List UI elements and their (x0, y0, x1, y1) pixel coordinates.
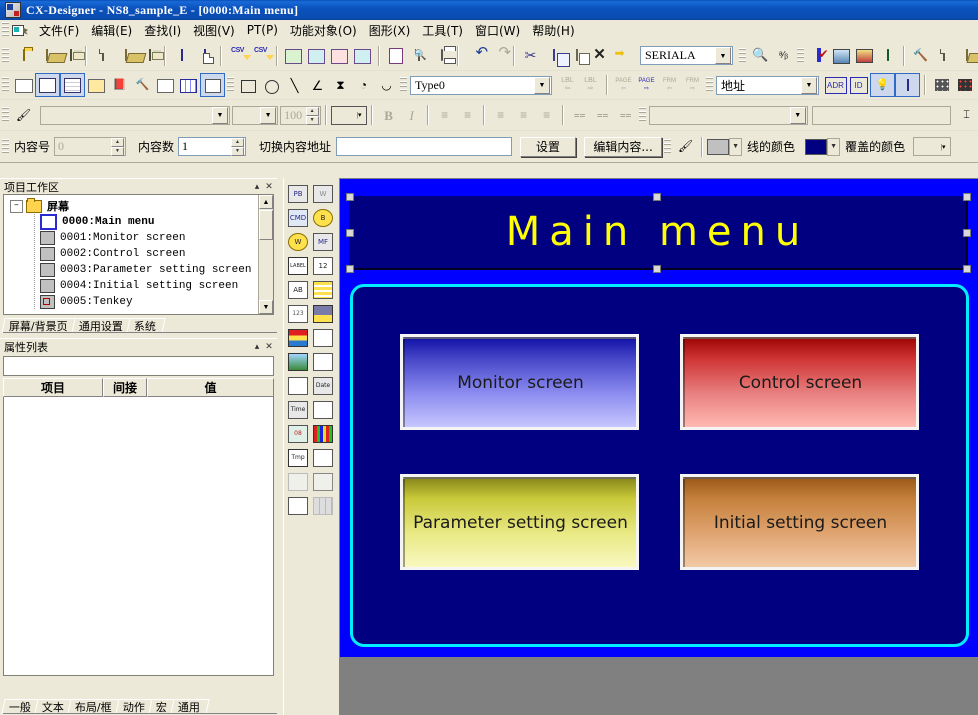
multifunction-icon[interactable]: MF (312, 231, 334, 253)
polygon-icon[interactable]: ⧗ (329, 74, 352, 96)
line-graph-icon[interactable] (312, 447, 334, 469)
host-select[interactable]: SERIALA ▼ (640, 46, 733, 65)
thumbwheel-icon-glyph: 123 (288, 305, 308, 323)
thumbwheel-icon[interactable]: 123 (287, 303, 309, 325)
tab-system[interactable]: 系统 (126, 318, 165, 333)
screen-icon (40, 279, 55, 293)
analog-meter-icon[interactable] (312, 303, 334, 325)
label-next-icon[interactable]: LBL⇨ (579, 74, 602, 96)
tree-item-label: 0005:Tenkey (60, 296, 133, 308)
menu-view[interactable]: 视图(V) (187, 20, 241, 41)
chevron-down-icon[interactable]: ▼ (212, 107, 228, 124)
table-select-icon[interactable] (60, 73, 85, 97)
pt-setup-icon[interactable] (351, 45, 374, 67)
ellipse-icon[interactable] (260, 74, 283, 96)
title-label-text: Main menu (506, 209, 809, 255)
scroll-thumb[interactable] (259, 210, 273, 240)
paste-icon[interactable] (565, 45, 588, 67)
scroll-down-icon[interactable]: ▼ (259, 300, 273, 314)
frame-icon[interactable] (287, 495, 309, 517)
toolbar-gripper-9[interactable] (639, 107, 646, 123)
fill-icon[interactable] (895, 73, 920, 97)
toolbar-gripper-11[interactable] (664, 139, 671, 155)
bitmap-icon[interactable] (287, 351, 309, 373)
bitmap-icon-glyph (288, 353, 308, 371)
word-lamp-icon[interactable]: W (312, 183, 334, 205)
date-icon-glyph: Date (313, 377, 333, 395)
screen-icon[interactable] (170, 45, 193, 67)
window-icon[interactable] (85, 74, 108, 96)
menu-bar: 文件(F) 编辑(E) 查找(I) 视图(V) PT(P) 功能对象(O) 图形… (0, 20, 978, 41)
standard-toolbar: CSV CSV 🔍 ✂ ✕ SERIALA ▼ 🔍 ᵃ⁄ᵦ 🔨 (0, 41, 978, 71)
adr-button[interactable]: ADR (824, 74, 847, 96)
analog-meter-icon-glyph (313, 305, 333, 323)
chevron-down-icon[interactable]: ▼ (801, 77, 817, 94)
format-toolbar: 🖌 ▼ ▼ 100 ▲▼ |▾ B I ≡ ≡ ≡ ≡ ≡ ⩵ ⩵ ⩵ (0, 100, 978, 131)
line-color-label: 线的颜色 (747, 138, 795, 155)
button-monitor-screen-label: Monitor screen (403, 337, 636, 427)
table-icon[interactable] (312, 495, 334, 517)
align-left-icon[interactable]: ≡ (433, 104, 456, 126)
toolbar-gripper-4[interactable] (2, 77, 9, 93)
tree-item-label: 0001:Monitor screen (60, 232, 185, 244)
string-display-icon[interactable]: AB (287, 279, 309, 301)
page-next-icon[interactable]: PAGE⇨ (635, 74, 658, 96)
csv-import-icon[interactable]: CSV (226, 45, 249, 67)
string-display-icon-glyph: AB (288, 281, 308, 299)
pb-button-icon-glyph: PB (288, 185, 308, 203)
color-bar-icon[interactable] (312, 423, 334, 445)
column-item[interactable]: 项目 (3, 378, 103, 397)
broken-line-graph-icon[interactable] (312, 327, 334, 349)
close-icon[interactable]: ✕ (263, 341, 275, 353)
arc-icon[interactable]: ◡ (375, 74, 398, 96)
column-indirect[interactable]: 间接 (103, 378, 147, 397)
level-meter-icon-glyph (288, 329, 308, 347)
word-button-icon-glyph: W (288, 233, 308, 251)
frame-prev-icon[interactable]: FRM⇦ (658, 74, 681, 96)
validate-icon[interactable] (807, 45, 830, 67)
chevron-down-icon[interactable]: |▾ (353, 107, 365, 124)
toolbar-gripper-1[interactable] (2, 48, 9, 64)
save-icon[interactable] (137, 45, 160, 67)
list-selection-icon[interactable] (312, 279, 334, 301)
sector-icon[interactable]: ◔ (352, 74, 375, 96)
content-number-stepper[interactable]: 0 ▲▼ (54, 137, 126, 156)
toolbar-separator (85, 46, 87, 66)
frame-next-icon[interactable]: FRM⇨ (681, 74, 704, 96)
type-select[interactable]: Type0 ▼ (410, 76, 552, 95)
keypad-icon (40, 295, 55, 309)
app-icon (5, 2, 21, 18)
expand-toggle-icon[interactable]: – (10, 200, 23, 213)
font-select[interactable]: ▼ (40, 106, 230, 125)
tab-screens[interactable]: 屏幕/背景页 (1, 318, 77, 333)
bit-lamp-icon[interactable]: B (312, 207, 334, 229)
toolbar-separator (513, 46, 515, 66)
menu-graphics[interactable]: 图形(X) (363, 20, 417, 41)
color-bar-icon-glyph (313, 425, 333, 443)
tool-hammer-icon[interactable]: 🔨 (131, 74, 154, 96)
tree-item-0003[interactable]: 0003:Parameter setting screen (8, 262, 273, 278)
numeral-display-icon-glyph: 12 (313, 257, 333, 275)
content-number-label: 内容号 (14, 138, 50, 155)
document-display-icon[interactable] (287, 471, 309, 493)
window-title: CX-Designer - NS8_sample_E - [0000:Main … (26, 3, 298, 18)
tree-root-row[interactable]: – 屏幕 (8, 198, 273, 214)
tree-item-0004[interactable]: 0004:Initial setting screen (8, 278, 273, 294)
selection-handle[interactable] (653, 193, 661, 201)
toolbar-gripper-8[interactable] (2, 107, 9, 123)
project-tree[interactable]: – 屏幕 0000:Main menu 0001:Monitor screen (3, 194, 274, 315)
object-properties-icon[interactable] (12, 74, 35, 96)
menu-file[interactable]: 文件(F) (33, 20, 85, 41)
design-screen[interactable]: Main menu Monitor screen Control screen … (340, 179, 978, 657)
property-grid-header: 项目 间接 值 (3, 378, 274, 397)
tree-content: – 屏幕 0000:Main menu 0001:Monitor screen (4, 195, 273, 310)
tool-hammer-icon[interactable]: 🔨 (909, 45, 932, 67)
italic-button[interactable]: I (400, 104, 423, 126)
command-button-icon-glyph: CMD (288, 209, 308, 227)
project-panel-header: 项目工作区 ▴ ✕ (0, 178, 277, 194)
column-value[interactable]: 值 (147, 378, 274, 397)
property-panel-title: 属性列表 (4, 339, 251, 355)
line-graph-icon-glyph (313, 449, 333, 467)
trend-graph-icon[interactable] (312, 399, 334, 421)
toolbar-separator (276, 46, 278, 66)
transform-icon[interactable] (200, 73, 225, 97)
compare-icon[interactable] (328, 45, 351, 67)
tree-item-label: 0003:Parameter setting screen (60, 264, 251, 276)
database-icon[interactable] (876, 45, 899, 67)
selection-handle[interactable] (653, 265, 661, 273)
tree-item-label: 0002:Control screen (60, 248, 185, 260)
data-log-graph-icon[interactable] (312, 351, 334, 373)
content-toolbar: 内容号 0 ▲▼ 内容数 1 ▲▼ 切换内容地址 设置 编辑内容... 🖌 ▼ … (0, 131, 978, 163)
menu-pt[interactable]: PT(P) (241, 21, 284, 39)
toolbar-separator (606, 75, 608, 95)
collapse-icon[interactable]: ▴ (251, 341, 263, 353)
style-select[interactable]: ▼ (649, 106, 808, 125)
document-system-icon[interactable] (12, 23, 29, 38)
video-display-icon[interactable] (312, 471, 334, 493)
screen-copy-icon[interactable] (193, 45, 216, 67)
text-cursor-icon[interactable]: ⌶ (955, 104, 978, 126)
button-initial-setting-screen[interactable]: Initial setting screen (680, 474, 919, 570)
data-log-graph-icon-glyph (313, 353, 333, 371)
document-display-icon-glyph (288, 473, 308, 491)
menu-frame[interactable]: Monitor screen Control screen Parameter … (350, 284, 969, 647)
grid-icon[interactable] (177, 74, 200, 96)
table-arrow-icon[interactable] (611, 45, 634, 67)
page-setup-icon[interactable] (384, 45, 407, 67)
document-check-icon[interactable] (932, 45, 955, 67)
alarm-table-icon[interactable]: 08 (287, 423, 309, 445)
property-grid-body[interactable] (3, 397, 274, 676)
chevron-down-icon[interactable]: |▾ (937, 138, 949, 155)
spinner-buttons[interactable]: ▲▼ (231, 138, 244, 155)
line-icon[interactable]: ╲ (283, 74, 306, 96)
menu-window[interactable]: 窗口(W) (469, 20, 526, 41)
toolbar-separator (483, 105, 485, 125)
toolbar-gripper-2[interactable] (739, 48, 746, 64)
label-icon[interactable]: LABEL (287, 255, 309, 277)
red-dots-icon[interactable] (953, 74, 976, 96)
screen-icon (40, 214, 57, 230)
selection-handle[interactable] (346, 193, 354, 201)
selection-handle[interactable] (963, 229, 971, 237)
object-palette-grid: PBWCMDBWMFLABEL12AB123DateTime08Tmp (284, 178, 340, 517)
toolbar-separator (562, 105, 564, 125)
window-title-bar: CX-Designer - NS8_sample_E - [0000:Main … (0, 0, 978, 20)
spacing-2-icon[interactable]: ⩵ (591, 104, 614, 126)
property-panel-tabs: 一般 文本 布局/框 动作 宏 通用 (3, 698, 277, 714)
toolbar-separator (903, 46, 905, 66)
print-icon[interactable] (430, 45, 453, 67)
command-button-icon[interactable]: CMD (287, 207, 309, 229)
application-window: CX-Designer - NS8_sample_E - [0000:Main … (0, 0, 978, 715)
level-meter-icon[interactable] (287, 327, 309, 349)
button-parameter-setting-screen[interactable]: Parameter setting screen (400, 474, 639, 570)
copy-icon[interactable] (542, 45, 565, 67)
macro-icon[interactable]: 📕 (108, 74, 131, 96)
object-toolbar: 📕 🔨 ╲ ∠ ⧗ ◔ ◡ Type0 ▼ LBL⇦ LBL⇨ PAGE⇦ PA… (0, 71, 978, 100)
chevron-down-icon[interactable]: ▼ (260, 107, 276, 124)
tree-item-label: 0000:Main menu (62, 216, 154, 228)
transfer-to-pt-icon[interactable] (282, 45, 305, 67)
toolbar-separator (164, 46, 166, 66)
tree-root-label: 屏幕 (47, 198, 69, 214)
screen-icon (40, 247, 55, 261)
close-icon[interactable]: ✕ (263, 181, 275, 193)
scroll-up-icon[interactable]: ▲ (259, 195, 273, 209)
alarm-table-icon-glyph: 08 (288, 425, 308, 443)
tree-item-0001[interactable]: 0001:Monitor screen (8, 230, 273, 246)
menu-gripper[interactable] (2, 22, 9, 38)
tree-vertical-scrollbar[interactable]: ▲ ▼ (258, 195, 273, 314)
toolbar-gripper-6[interactable] (400, 77, 407, 93)
delete-icon[interactable]: ✕ (588, 45, 611, 67)
multifunction-icon-glyph: MF (313, 233, 333, 251)
menu-help[interactable]: 帮助(H) (526, 20, 580, 41)
tab-common[interactable]: 通用 (170, 699, 209, 714)
data-block-icon[interactable] (287, 375, 309, 397)
frame-icon[interactable] (154, 74, 177, 96)
paint-brush-icon[interactable]: 🖌 (674, 136, 697, 158)
toolbar-separator (701, 137, 703, 157)
id-button[interactable]: ID (847, 74, 870, 96)
style-field[interactable] (812, 106, 951, 125)
data-block-icon-glyph (288, 377, 308, 395)
open-folder-icon[interactable] (955, 45, 978, 67)
toolbar-gripper-10[interactable] (2, 139, 9, 155)
dots-icon[interactable] (930, 74, 953, 96)
folder-icon (26, 200, 42, 213)
toolbar-separator (427, 105, 429, 125)
print-preview-icon[interactable]: 🔍 (407, 45, 430, 67)
chevron-down-icon[interactable]: ▼ (729, 138, 742, 156)
canvas-area[interactable]: Main menu Monitor screen Control screen … (339, 178, 978, 715)
csv-export-icon[interactable]: CSV (249, 45, 272, 67)
save-all-icon[interactable] (58, 45, 81, 67)
align-top-icon[interactable]: ≡ (489, 104, 512, 126)
chevron-down-icon[interactable]: ▼ (790, 107, 806, 124)
button-monitor-screen[interactable]: Monitor screen (400, 334, 639, 430)
spacing-1-icon[interactable]: ⩵ (568, 104, 591, 126)
menu-tools[interactable]: 工具(T) (416, 20, 469, 41)
menu-functional-objects[interactable]: 功能对象(O) (284, 20, 363, 41)
chevron-down-icon[interactable]: ▼ (827, 138, 840, 156)
align-middle-icon[interactable]: ≡ (512, 104, 535, 126)
toolbar-separator (325, 105, 327, 125)
address-select[interactable]: 地址 ▼ (716, 76, 819, 95)
list-selection-icon-glyph (313, 281, 333, 299)
chevron-down-icon[interactable]: ▼ (715, 47, 731, 64)
screen-select-icon[interactable] (35, 73, 60, 97)
video-display-icon-glyph (313, 473, 333, 491)
bit-lamp-icon-glyph: B (313, 209, 333, 227)
set-button[interactable]: 设置 (520, 137, 576, 157)
menu-find[interactable]: 查找(I) (138, 20, 187, 41)
table-icon-glyph (313, 497, 333, 515)
new-file-icon[interactable] (91, 45, 114, 67)
toolbar-separator (457, 46, 459, 66)
rectangle-icon[interactable] (237, 74, 260, 96)
bold-button[interactable]: B (377, 104, 400, 126)
label-icon-glyph: LABEL (288, 257, 308, 275)
tab-common-settings[interactable]: 通用设置 (71, 318, 132, 333)
tree-item-0005[interactable]: 0005:Tenkey (8, 294, 273, 310)
menu-edit[interactable]: 编辑(E) (85, 20, 138, 41)
redo-icon[interactable] (486, 45, 509, 67)
word-lamp-icon-glyph: W (313, 185, 333, 203)
test-icon[interactable] (853, 45, 876, 67)
title-label-object[interactable]: Main menu (349, 196, 966, 268)
selection-handle[interactable] (963, 193, 971, 201)
spacing-3-icon[interactable]: ⩵ (614, 104, 637, 126)
fill-color-label: 覆盖的颜色 (845, 138, 905, 155)
open-file-icon[interactable] (114, 45, 137, 67)
spinner-buttons[interactable]: ▲▼ (111, 138, 124, 155)
date-icon[interactable]: Date (312, 375, 334, 397)
time-icon-glyph: Time (288, 401, 308, 419)
fill-color-swatch (805, 139, 827, 155)
format-painter-icon[interactable]: 🖌 (12, 104, 35, 126)
cut-icon[interactable]: ✂ (519, 45, 542, 67)
content-count-label: 内容数 (138, 138, 174, 155)
switch-address-label: 切换内容地址 (259, 138, 331, 155)
tree-item-0000[interactable]: 0000:Main menu (8, 214, 273, 230)
selection-handle[interactable] (963, 265, 971, 273)
pb-button-icon[interactable]: PB (287, 183, 309, 205)
numeral-display-icon[interactable]: 12 (312, 255, 334, 277)
tree-item-0002[interactable]: 0002:Control screen (8, 246, 273, 262)
transfer-from-pt-icon[interactable] (305, 45, 328, 67)
edit-content-button[interactable]: 编辑内容... (584, 137, 662, 157)
fill-color-picker[interactable]: ▼ (805, 138, 840, 156)
time-icon[interactable]: Time (287, 399, 309, 421)
trend-graph-icon-glyph (313, 401, 333, 419)
align-bottom-icon[interactable]: ≡ (535, 104, 558, 126)
chevron-down-icon[interactable]: ▼ (534, 77, 550, 94)
project-panel-tabs: 屏幕/背景页 通用设置 系统 (3, 317, 277, 333)
toolbar-gripper-3[interactable] (797, 48, 804, 64)
content-count-stepper[interactable]: 1 ▲▼ (178, 137, 246, 156)
toolbar-gripper-5[interactable] (227, 77, 234, 93)
button-control-screen-label: Control screen (683, 337, 916, 427)
toolbar-separator (371, 105, 373, 125)
selection-handle[interactable] (346, 229, 354, 237)
label-prev-icon[interactable]: LBL⇦ (556, 74, 579, 96)
page-prev-icon[interactable]: PAGE⇦ (612, 74, 635, 96)
property-object-field[interactable] (3, 356, 274, 376)
toolbar-separator (924, 75, 926, 95)
tree-item-label: 0004:Initial setting screen (60, 280, 238, 292)
pattern-select[interactable]: |▾ (913, 137, 951, 156)
spinner-buttons[interactable]: ▲▼ (306, 107, 319, 124)
polyline-icon[interactable]: ∠ (306, 74, 329, 96)
broken-line-graph-icon-glyph (313, 329, 333, 347)
left-dock: 项目工作区 ▴ ✕ – 屏幕 0000:Main menu (0, 178, 277, 715)
undo-icon[interactable] (463, 45, 486, 67)
replace-icon[interactable]: ᵃ⁄ᵦ (772, 45, 795, 67)
screen-icon (40, 231, 55, 245)
screen-icon (40, 263, 55, 277)
open-project-icon[interactable] (35, 45, 58, 67)
line-color-swatch (707, 139, 729, 155)
word-button-icon[interactable]: W (287, 231, 309, 253)
button-parameter-setting-screen-label: Parameter setting screen (403, 477, 636, 567)
simulation-icon[interactable] (830, 45, 853, 67)
temporary-input-icon-glyph: Tmp (288, 449, 308, 467)
frame-icon-glyph (288, 497, 308, 515)
find-icon[interactable]: 🔍 (749, 45, 772, 67)
temporary-input-icon[interactable]: Tmp (287, 447, 309, 469)
toolbar-separator (220, 46, 222, 66)
scale-stepper[interactable]: 100 ▲▼ (280, 106, 321, 125)
project-panel-title: 项目工作区 (4, 179, 251, 195)
toolbar-separator (378, 46, 380, 66)
selection-handle[interactable] (346, 265, 354, 273)
text-color-select[interactable]: |▾ (331, 106, 368, 125)
property-panel-header: 属性列表 ▴ ✕ (0, 338, 277, 354)
font-size-select[interactable]: ▼ (232, 106, 278, 125)
tab-layout-frame[interactable]: 布局/框 (67, 699, 121, 714)
light-icon[interactable]: 💡 (870, 73, 895, 97)
switch-address-input[interactable] (336, 137, 512, 156)
new-project-icon[interactable] (12, 45, 35, 67)
toolbar-gripper-7[interactable] (706, 77, 713, 93)
align-center-icon[interactable]: ≡ (456, 104, 479, 126)
collapse-icon[interactable]: ▴ (251, 181, 263, 193)
line-color-picker[interactable]: ▼ (707, 138, 742, 156)
object-palette: PBWCMDBWMFLABEL12AB123DateTime08Tmp (283, 178, 340, 715)
button-initial-setting-screen-label: Initial setting screen (683, 477, 916, 567)
button-control-screen[interactable]: Control screen (680, 334, 919, 430)
